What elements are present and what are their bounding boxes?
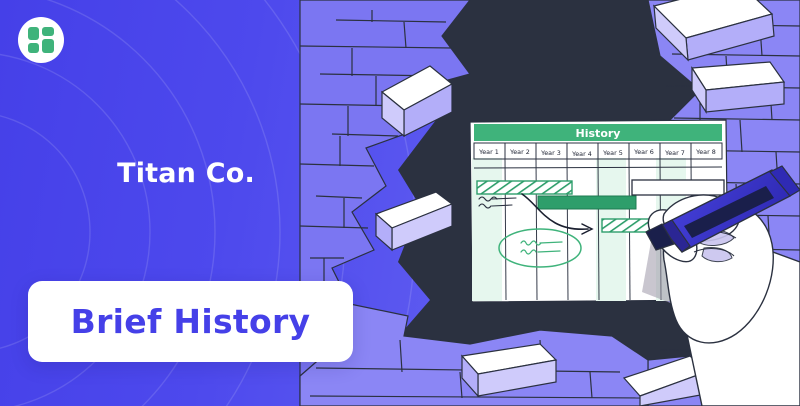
poster-canvas: History Year 1 Year 2 Year 3 Year 4 Year… xyxy=(0,0,800,406)
column-header: Year 5 xyxy=(602,149,623,157)
brand-logo[interactable] xyxy=(18,17,64,63)
history-chart-title: History xyxy=(576,127,621,140)
grid-square-bottom-right xyxy=(42,39,54,53)
column-header: Year 3 xyxy=(540,149,561,157)
column-header: Year 4 xyxy=(571,150,592,158)
brand-name: Titan Co. xyxy=(0,158,372,189)
left-content-column: Titan Co. Brief History xyxy=(0,0,372,406)
column-header: Year 2 xyxy=(509,148,530,156)
brief-history-card[interactable]: Brief History xyxy=(28,281,353,362)
gantt-bar-hatched-1 xyxy=(477,181,572,194)
grid-square-top-left xyxy=(28,27,39,40)
grid-square-top-right xyxy=(42,27,54,36)
flying-block-mid-right xyxy=(692,62,784,112)
column-header: Year 1 xyxy=(478,148,499,156)
brief-history-label: Brief History xyxy=(71,302,311,341)
column-header: Year 6 xyxy=(633,148,654,156)
column-header: Year 8 xyxy=(695,148,716,156)
grid-square-bottom-left xyxy=(28,43,39,53)
four-square-grid-icon xyxy=(28,27,54,53)
gantt-bar-outline-1 xyxy=(632,180,724,195)
gantt-bar-solid-1 xyxy=(538,196,636,209)
column-header: Year 7 xyxy=(664,149,685,157)
